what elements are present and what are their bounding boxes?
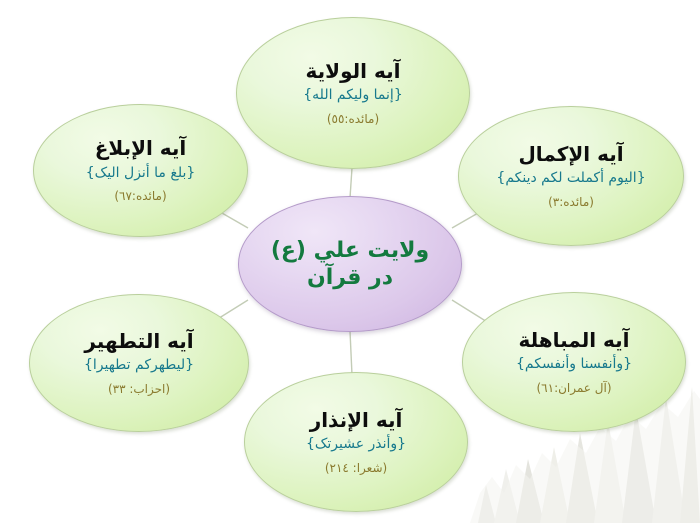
node-verse: {إنما وليكم الله} <box>295 87 410 105</box>
node-heading: آيه الإكمال <box>512 143 629 165</box>
node-reference: (احزاب: ٣٣) <box>102 382 176 396</box>
node-ayat-al-mubahala[interactable]: آيه المباهلة {وأنفسنا وأنفسكم} (آل عمران… <box>462 292 686 432</box>
node-ayat-al-iblagh[interactable]: آيه الإبلاغ {بلغ ما أنزل اليک} (مائده:٦٧… <box>33 104 248 237</box>
node-ayat-al-ikmal[interactable]: آيه الإكمال {اليوم أكملت لكم دينكم} (مائ… <box>458 106 684 246</box>
node-verse: {وأنذر عشيرتک} <box>298 436 414 454</box>
center-node-title-line2: در قرآن <box>297 264 403 292</box>
node-heading: آيه الولاية <box>300 60 407 82</box>
node-ayat-al-indhar[interactable]: آيه الإنذار {وأنذر عشيرتک} (شعرا: ٢١٤) <box>244 372 468 512</box>
node-heading: آيه الإنذار <box>304 409 409 431</box>
center-node-title-line1: ولايت علي (ع) <box>261 237 439 265</box>
connector-center-indhar <box>350 331 352 375</box>
node-reference: (آل عمران:٦١) <box>530 381 617 395</box>
node-reference: (مائده:٣) <box>542 195 600 209</box>
node-ayat-al-tathir[interactable]: آيه التطهير {ليطهركم تطهيرا} (احزاب: ٣٣) <box>29 294 249 432</box>
node-heading: آيه المباهلة <box>512 329 635 351</box>
center-node-wilayat-ali-in-quran[interactable]: ولايت علي (ع) در قرآن <box>238 196 462 332</box>
node-verse: {ليطهركم تطهيرا} <box>76 357 202 375</box>
node-verse: {بلغ ما أنزل اليک} <box>78 165 204 183</box>
node-reference: (شعرا: ٢١٤) <box>319 461 393 475</box>
node-verse: {اليوم أكملت لكم دينكم} <box>488 170 653 188</box>
node-reference: (مائده:٥٥) <box>321 112 385 126</box>
node-heading: آيه الإبلاغ <box>89 137 193 159</box>
node-verse: {وأنفسنا وأنفسكم} <box>508 356 640 374</box>
diagram-canvas: ولايت علي (ع) در قرآن آيه الولاية {إنما … <box>0 0 700 523</box>
connector-center-wilayah <box>350 168 352 198</box>
node-ayat-al-wilayah[interactable]: آيه الولاية {إنما وليكم الله} (مائده:٥٥) <box>236 17 470 169</box>
node-heading: آيه التطهير <box>78 330 199 352</box>
node-reference: (مائده:٦٧) <box>108 189 172 203</box>
